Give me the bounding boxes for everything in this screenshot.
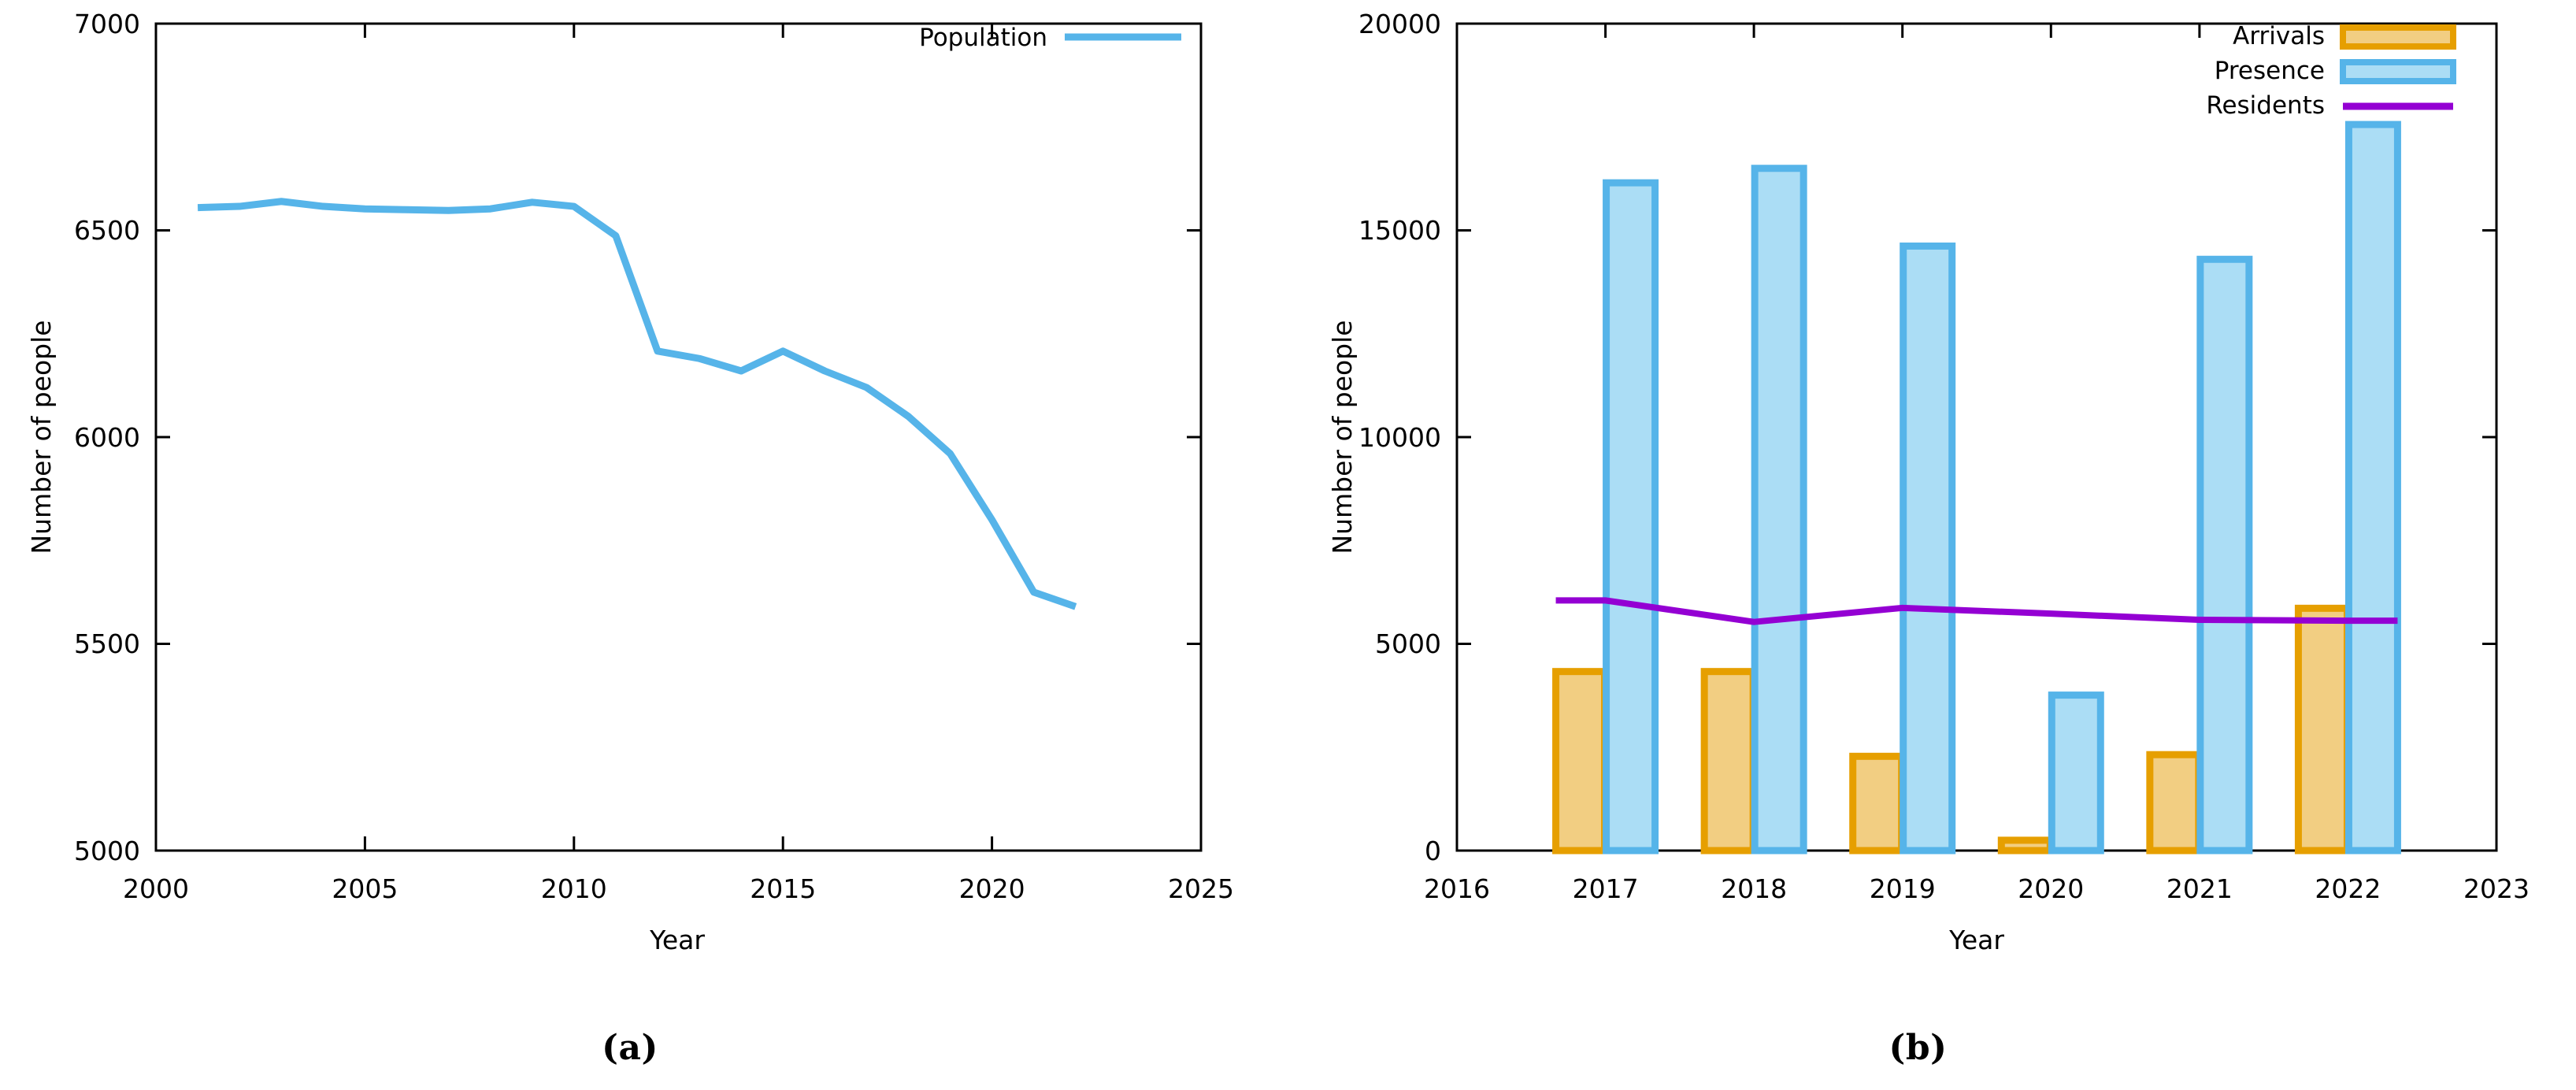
panel-a-xtick-0: 2000 — [123, 873, 189, 904]
panel-a-caption: (a) — [0, 1028, 1260, 1068]
panel-a-ytick-4: 7000 — [74, 9, 140, 39]
bar-arrivals — [1704, 672, 1753, 851]
panel-b-legend-label-arrivals: Arrivals — [2233, 22, 2325, 50]
panel-b-xtick-7: 2023 — [2463, 873, 2530, 904]
panel-b-legend-swatch-arrivals — [2343, 28, 2453, 46]
panel-a-xtick-5: 2025 — [1168, 873, 1234, 904]
panel-b-legend-label-presence: Presence — [2215, 57, 2325, 85]
panel-b-yaxis-label: Number of people — [1327, 320, 1358, 554]
panel-a-yaxis-label: Number of people — [26, 320, 57, 554]
panel-a-xtick-1: 2005 — [332, 873, 398, 904]
panel-a-ytick-1: 5500 — [74, 628, 140, 659]
panel-b-xtick-0: 2016 — [1424, 873, 1490, 904]
panel-b-xtick-4: 2020 — [2018, 873, 2084, 904]
panel-a-xtick-4: 2020 — [959, 873, 1025, 904]
panel-a-series-population — [198, 202, 1076, 607]
panel-b-ytick-1: 5000 — [1375, 628, 1441, 659]
panel-b-caption: (b) — [1260, 1028, 2576, 1068]
panel-b-ytick-4: 20000 — [1358, 9, 1441, 39]
panel-a-ytick-3: 6500 — [74, 215, 140, 246]
bar-arrivals — [1556, 672, 1605, 851]
panel-b-legend: Arrivals Presence Residents — [2206, 22, 2453, 120]
bar-presence — [1755, 169, 1803, 851]
panel-a-legend-label-population: Population — [919, 24, 1047, 52]
bar-presence — [2200, 259, 2249, 851]
bar-presence — [1903, 246, 1952, 851]
panel-b-xtick-5: 2021 — [2166, 873, 2233, 904]
panel-a-legend: Population — [919, 24, 1181, 52]
panel-b-xtick-6: 2022 — [2315, 873, 2381, 904]
bar-presence — [2348, 124, 2397, 851]
panel-b-ytick-0: 0 — [1425, 836, 1441, 866]
panel-a-ytick-2: 6000 — [74, 422, 140, 453]
bar-arrivals — [2150, 754, 2199, 851]
bar-arrivals — [2298, 608, 2347, 851]
panel-b-legend-label-residents: Residents — [2206, 91, 2325, 120]
panel-b-xtick-2: 2018 — [1721, 873, 1787, 904]
panel-b-series-residents — [1556, 600, 2398, 621]
panel-a-xtick-3: 2015 — [750, 873, 816, 904]
panel-a: 5000 5500 6000 6500 7000 2000 2005 2010 … — [0, 0, 1260, 1090]
panel-b-legend-swatch-presence — [2343, 62, 2453, 81]
panel-a-xaxis-label: Year — [649, 925, 705, 955]
bar-arrivals — [1853, 756, 1902, 851]
panel-a-axes — [156, 24, 1201, 851]
figure-root: 5000 5500 6000 6500 7000 2000 2005 2010 … — [0, 0, 2576, 1090]
panel-b-xtick-1: 2017 — [1573, 873, 1639, 904]
panel-b-xtick-3: 2019 — [1870, 873, 1936, 904]
panel-a-plot: 5000 5500 6000 6500 7000 2000 2005 2010 … — [0, 0, 1260, 1024]
bar-presence — [2052, 695, 2100, 851]
panel-a-ytick-0: 5000 — [74, 836, 140, 866]
panel-b-xaxis-label: Year — [1948, 925, 2004, 955]
panel-b-ytick-3: 15000 — [1358, 215, 1441, 246]
panel-b-ytick-2: 10000 — [1358, 422, 1441, 453]
bar-presence — [1607, 183, 1655, 851]
bar-arrivals — [2001, 840, 2050, 851]
panel-b-plot: 0 5000 10000 15000 20000 2016 2017 2018 … — [1260, 0, 2576, 1024]
panel-b: 0 5000 10000 15000 20000 2016 2017 2018 … — [1260, 0, 2576, 1090]
panel-a-xtick-2: 2010 — [541, 873, 607, 904]
